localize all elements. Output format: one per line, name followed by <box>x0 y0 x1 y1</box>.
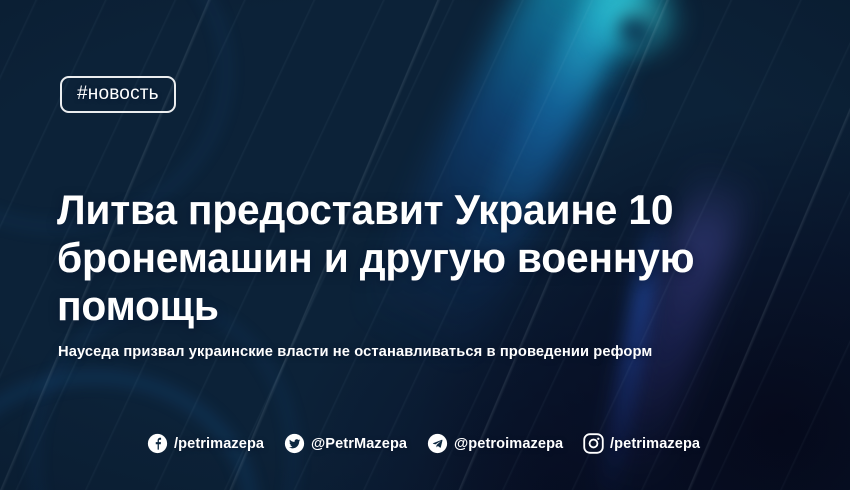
social-handle-instagram: /petrimazepa <box>610 435 700 452</box>
subtitle: Науседа призвал украинские власти не ост… <box>58 343 652 360</box>
social-link-instagram[interactable]: /petrimazepa <box>583 433 703 454</box>
social-handle-facebook: /petrimazepa <box>174 435 264 452</box>
news-card: #новость Литва предоставит Украине 10 бр… <box>0 0 850 490</box>
category-badge[interactable]: #новость <box>60 76 176 113</box>
social-link-facebook[interactable]: /petrimazepa <box>147 433 267 454</box>
telegram-icon <box>427 433 448 454</box>
social-handle-twitter: @PetrMazepa <box>311 435 407 452</box>
instagram-icon <box>583 433 604 454</box>
social-links: /petrimazepa @PetrMazepa @petroimazepa <box>0 433 850 454</box>
page-title: Литва предоставит Украине 10 бронемашин … <box>57 186 755 330</box>
card-content: #новость Литва предоставит Украине 10 бр… <box>0 0 850 490</box>
social-handle-telegram: @petroimazepa <box>454 435 563 452</box>
social-link-telegram[interactable]: @petroimazepa <box>427 433 567 454</box>
facebook-icon <box>147 433 168 454</box>
twitter-icon <box>284 433 305 454</box>
social-link-twitter[interactable]: @PetrMazepa <box>284 433 410 454</box>
